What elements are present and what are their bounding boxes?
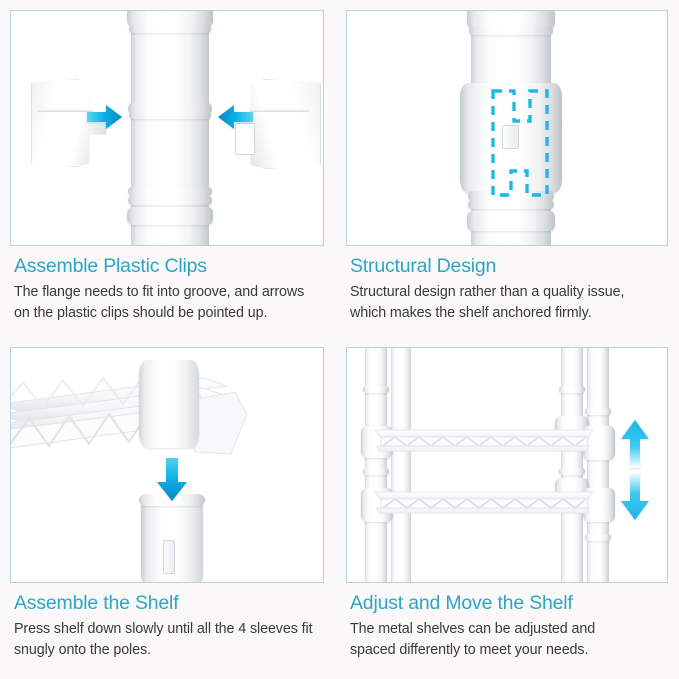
panel-adjust-and-move-the-shelf: Adjust and Move the Shelf The metal shel… xyxy=(340,339,679,679)
arrow-left-icon xyxy=(217,104,253,130)
dashed-highlight-icon xyxy=(447,73,587,213)
caption-assemble-the-shelf: Assemble the Shelf Press shelf down slow… xyxy=(14,591,334,660)
pole-front-left xyxy=(391,347,411,583)
arrow-right-icon xyxy=(87,104,123,130)
pole-rib-lower2 xyxy=(128,196,212,205)
pole-rib-lower xyxy=(128,187,212,196)
panel-title: Structural Design xyxy=(350,254,673,278)
panel-title: Adjust and Move the Shelf xyxy=(350,591,673,615)
wire-shelf-graphic xyxy=(10,358,255,508)
panel-assemble-plastic-clips: Assemble Plastic Clips The flange needs … xyxy=(0,0,340,339)
pole-collar-bottom xyxy=(127,207,213,225)
illustration-structural-design xyxy=(346,10,668,246)
pole-groove-mid2 xyxy=(129,112,211,119)
caption-adjust-and-move-the-shelf: Adjust and Move the Shelf The metal shel… xyxy=(350,591,673,660)
panel-description: The flange needs to fit into groove, and… xyxy=(14,282,334,323)
pole-rib-top xyxy=(469,27,553,35)
pole-rib xyxy=(585,534,611,541)
pole-rib xyxy=(363,468,389,475)
panel-description: The metal shelves can be adjusted and sp… xyxy=(350,619,673,660)
sleeve-latch-slot xyxy=(163,540,175,574)
pole-rib xyxy=(363,386,389,393)
arrow-down-icon xyxy=(156,458,188,502)
panel-assemble-the-shelf: Assemble the Shelf Press shelf down slow… xyxy=(0,339,340,679)
wire-shelf-upper xyxy=(373,418,595,458)
arrow-up-down-icon xyxy=(619,420,651,520)
panel-description: Structural design rather than a quality … xyxy=(350,282,673,323)
pole-collar-bottom xyxy=(467,211,555,231)
plastic-clip-left-ridge xyxy=(37,109,93,112)
wire-shelf-lower xyxy=(373,480,595,520)
pole-front-right xyxy=(587,347,609,583)
panel-structural-design: Structural Design Structural design rath… xyxy=(340,0,679,339)
instruction-sheet: Assemble Plastic Clips The flange needs … xyxy=(0,0,679,679)
pole-rib xyxy=(559,468,585,475)
shelf-sleeve-upper xyxy=(139,360,199,448)
pole-rear-left xyxy=(365,347,387,583)
panel-title: Assemble the Shelf xyxy=(14,591,334,615)
pole-rib xyxy=(585,408,611,415)
pole-rib xyxy=(559,386,585,393)
plastic-clip-right-ridge xyxy=(249,109,309,112)
illustration-adjust-and-move-the-shelf xyxy=(346,347,668,583)
pole-rib-upper xyxy=(129,25,211,33)
pole-rear-right xyxy=(561,347,583,583)
illustration-assemble-plastic-clips xyxy=(10,10,324,246)
panel-title: Assemble Plastic Clips xyxy=(14,254,334,278)
panel-description: Press shelf down slowly until all the 4 … xyxy=(14,619,334,660)
caption-assemble-plastic-clips: Assemble Plastic Clips The flange needs … xyxy=(14,254,334,323)
illustration-assemble-the-shelf xyxy=(10,347,324,583)
caption-structural-design: Structural Design Structural design rath… xyxy=(350,254,673,323)
